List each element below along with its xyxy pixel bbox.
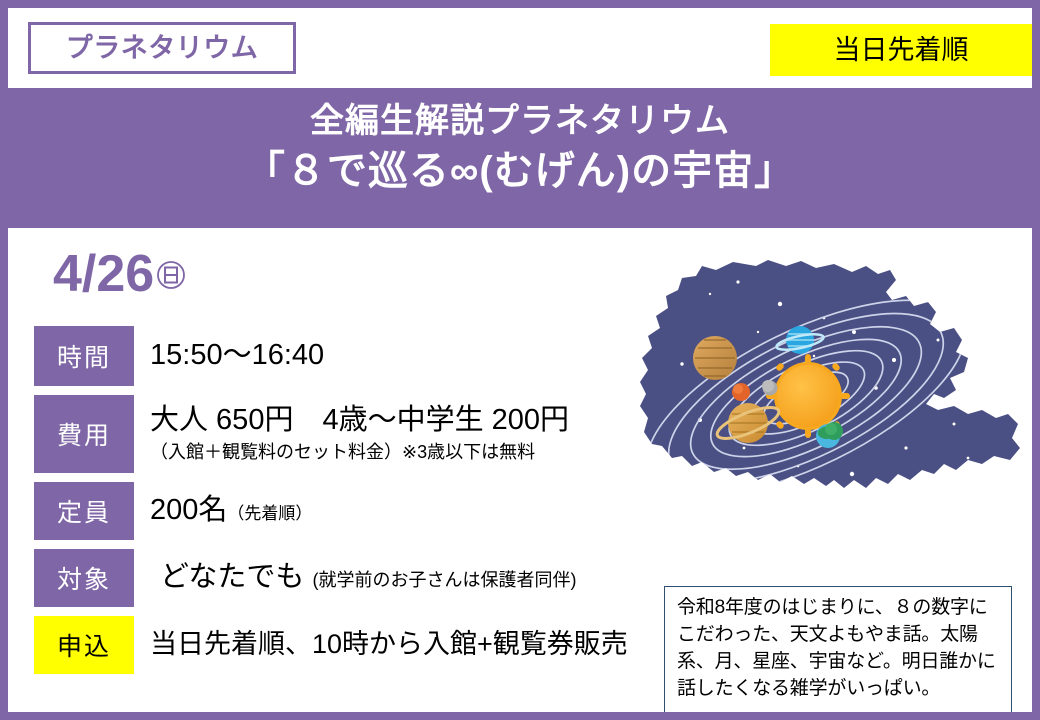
circled-day-icon — [156, 260, 186, 290]
info-application-text: 当日先着順、10時から入館+観覧券販売 — [150, 629, 649, 660]
info-value-time: 15:50〜16:40 — [134, 326, 649, 386]
planet-neptune — [886, 481, 926, 521]
info-label-time: 時間 — [34, 326, 134, 386]
event-date-dayofweek — [156, 260, 186, 294]
event-title-sub: 「８で巡る∞(むげん)の宇宙」 — [8, 145, 1032, 197]
solar-system-svg — [638, 248, 1028, 578]
info-label-target: 対象 — [34, 549, 134, 607]
first-come-badge-label: 当日先着順 — [834, 37, 969, 64]
info-value-fee: 大人 650円 4歳〜中学生 200円 （入館＋観覧料のセット料金）※3歳以下は… — [134, 395, 649, 473]
planet-mars — [732, 383, 750, 401]
table-row: 定員 200名（先着順） — [34, 482, 649, 540]
info-label-capacity: 定員 — [34, 482, 134, 540]
map-silhouette — [638, 248, 1028, 578]
event-date: 4/26 — [53, 248, 186, 300]
info-target-text: どなたでも — [160, 561, 304, 593]
description-text: 令和8年度のはじまりに、８の数字にこだわった、天文よもやま話。太陽系、月、星座、… — [677, 595, 1001, 703]
info-target-note: (就学前のお子さんは保護者同伴) — [312, 570, 576, 590]
info-capacity-line: 200名（先着順） — [150, 494, 649, 527]
category-tab: プラネタリウム — [28, 22, 296, 74]
table-row: 対象 どなたでも (就学前のお子さんは保護者同伴) — [34, 549, 649, 607]
planetarium-event-poster: プラネタリウム 当日先着順 全編生解説プラネタリウム 「８で巡る∞(むげん)の宇… — [0, 0, 1040, 720]
event-date-number: 4/26 — [53, 248, 154, 300]
table-row: 申込 当日先着順、10時から入館+観覧券販売 — [34, 616, 649, 674]
event-title-main: 全編生解説プラネタリウム — [8, 100, 1032, 143]
title-band: 全編生解説プラネタリウム 「８で巡る∞(むげん)の宇宙」 — [8, 88, 1032, 228]
body-area: 4/26 時間 15:50〜16:40 費用 大人 650円 4歳〜中学生 — [8, 228, 1032, 712]
info-value-capacity: 200名（先着順） — [134, 482, 649, 540]
info-label-fee: 費用 — [34, 395, 134, 473]
info-fee-note: （入館＋観覧料のセット料金）※3歳以下は無料 — [150, 441, 649, 464]
category-tab-label: プラネタリウム — [66, 35, 259, 62]
planet-jupiter — [693, 336, 737, 380]
top-strip: プラネタリウム 当日先着順 — [8, 8, 1032, 88]
info-time-text: 15:50〜16:40 — [150, 339, 649, 372]
table-row: 費用 大人 650円 4歳〜中学生 200円 （入館＋観覧料のセット料金）※3歳… — [34, 395, 649, 473]
first-come-badge: 当日先着順 — [770, 24, 1032, 76]
info-capacity-note: （先着順） — [227, 504, 312, 523]
info-fee-text: 大人 650円 4歳〜中学生 200円 — [150, 404, 649, 437]
planet-venus — [825, 422, 843, 440]
description-box: 令和8年度のはじまりに、８の数字にこだわった、天文よもやま話。太陽系、月、星座、… — [664, 586, 1012, 713]
table-row: 時間 15:50〜16:40 — [34, 326, 649, 386]
info-value-application: 当日先着順、10時から入館+観覧券販売 — [134, 616, 649, 674]
solar-system-illustration — [638, 248, 1028, 578]
event-info-table: 時間 15:50〜16:40 費用 大人 650円 4歳〜中学生 200円 （入… — [34, 326, 649, 683]
info-capacity-text: 200名 — [150, 494, 227, 526]
info-target-line: どなたでも (就学前のお子さんは保護者同伴) — [150, 561, 649, 594]
info-label-application: 申込 — [34, 616, 134, 674]
info-value-target: どなたでも (就学前のお子さんは保護者同伴) — [134, 549, 649, 607]
